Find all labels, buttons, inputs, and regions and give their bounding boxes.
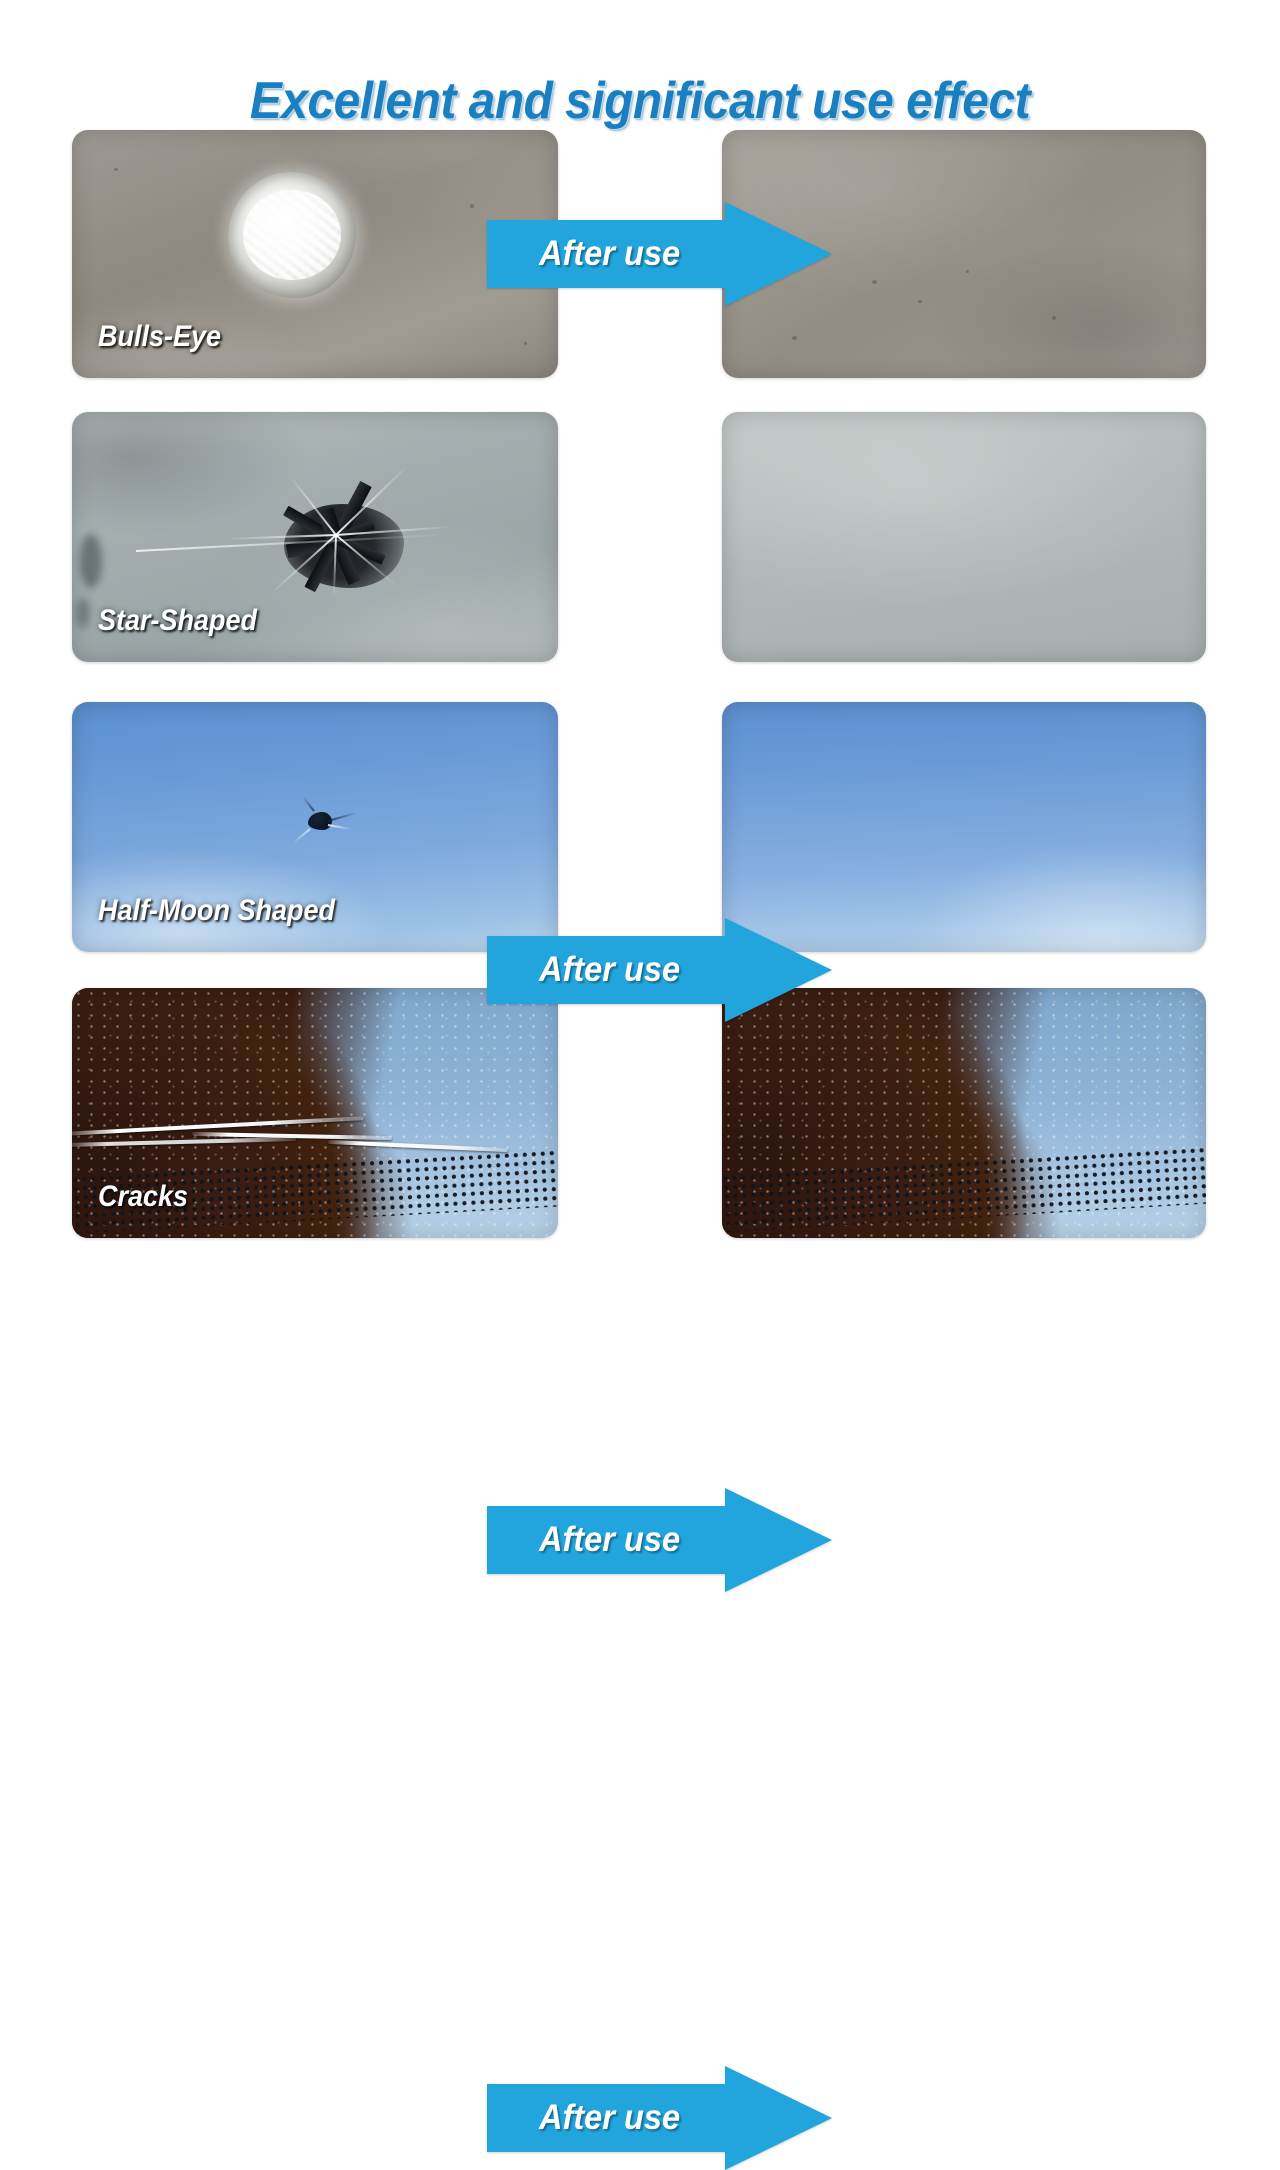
right-arrow-icon [487,918,832,1022]
before-image-half-moon: Half-Moon Shaped [72,702,558,952]
after-use-arrow-bulls-eye: After use [487,202,832,306]
after-image-star-shaped [722,412,1206,662]
comparison-row-star-shaped: Star-Shaped After use [0,412,1280,662]
comparison-row-cracks: Cracks After use [0,988,1280,1238]
after-use-arrow-star-shaped: After use [487,918,832,1022]
after-image-half-moon [722,702,1206,952]
caption-cracks: Cracks [98,1180,188,1214]
caption-half-moon: Half-Moon Shaped [98,894,335,928]
panel-vignette [722,412,1206,662]
after-use-arrow-cracks: After use [487,2066,832,2170]
caption-star-shaped: Star-Shaped [98,604,257,638]
comparison-row-bulls-eye: Bulls-Eye After use [0,130,1280,378]
panel-vignette [722,702,1206,952]
right-arrow-icon [487,2066,832,2170]
before-image-bulls-eye: Bulls-Eye [72,130,558,378]
page-title: Excellent and significant use effect [51,71,1229,131]
comparison-row-half-moon: Half-Moon Shaped After use [0,702,1280,952]
right-arrow-icon [487,202,832,306]
right-arrow-icon [487,1488,832,1592]
panel-vignette [722,988,1206,1238]
after-use-arrow-half-moon: After use [487,1488,832,1592]
before-image-cracks: Cracks [72,988,558,1238]
after-image-cracks [722,988,1206,1238]
caption-bulls-eye: Bulls-Eye [98,320,221,354]
before-image-star-shaped: Star-Shaped [72,412,558,662]
